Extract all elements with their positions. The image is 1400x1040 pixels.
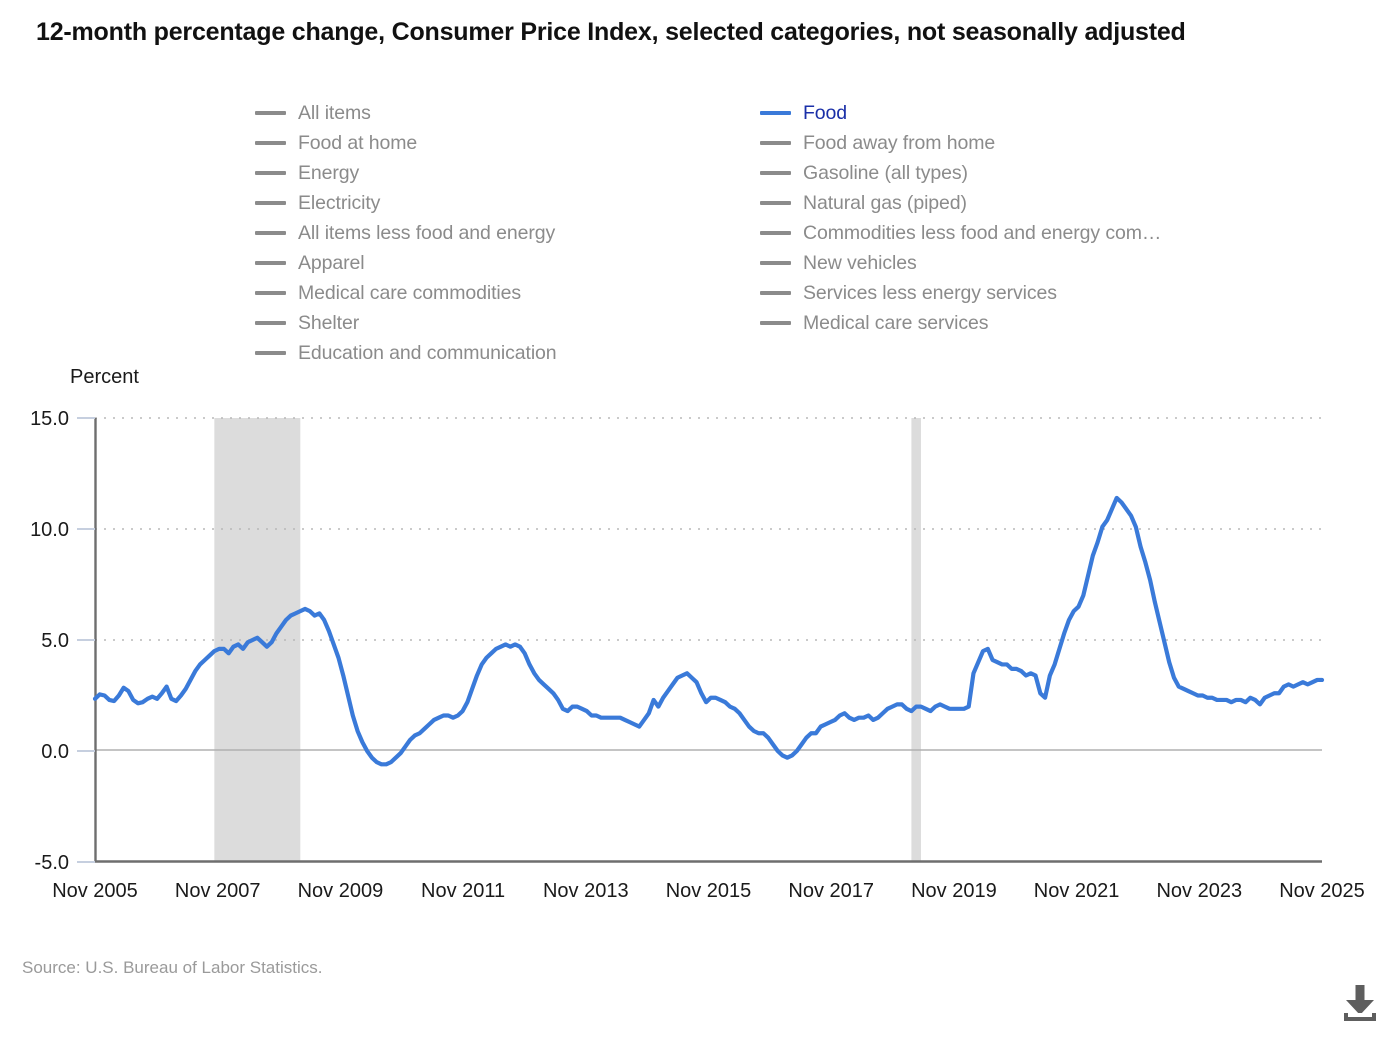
legend-item-energy[interactable]: Energy (255, 158, 760, 188)
legend-item-gasoline-all-types[interactable]: Gasoline (all types) (760, 158, 1280, 188)
recession-band (214, 418, 300, 862)
legend-item-food-away-from-home[interactable]: Food away from home (760, 128, 1280, 158)
legend-item-education-and-communication[interactable]: Education and communication (255, 338, 760, 368)
legend-item-label: Commodities less food and energy com… (803, 222, 1161, 245)
legend-item-label: Electricity (298, 192, 380, 215)
legend-item-label: Shelter (298, 312, 359, 335)
y-tick-label: 5.0 (41, 630, 69, 652)
legend-line-icon (255, 321, 286, 325)
x-tick-label: Nov 2011 (421, 880, 505, 902)
x-tick-label: Nov 2021 (1034, 880, 1120, 902)
legend-column-right: Food Food away from home Gasoline (all t… (760, 98, 1280, 368)
legend-column-left: All items Food at home Energy Electricit… (255, 98, 760, 368)
legend-item-medical-care-services[interactable]: Medical care services (760, 308, 1280, 338)
legend-item-electricity[interactable]: Electricity (255, 188, 760, 218)
y-tick-labels: -5.00.05.010.015.0 (30, 408, 69, 874)
recession-band (911, 418, 921, 862)
legend-line-icon (760, 261, 791, 265)
legend-item-label: Food away from home (803, 132, 995, 155)
legend-line-icon (760, 321, 791, 325)
x-tick-label: Nov 2017 (788, 880, 874, 902)
legend-item-new-vehicles[interactable]: New vehicles (760, 248, 1280, 278)
chart-legend: All items Food at home Energy Electricit… (255, 98, 1355, 368)
y-tick-marks (77, 418, 95, 862)
legend-item-label: Food (803, 102, 847, 125)
legend-item-label: Services less energy services (803, 282, 1057, 305)
legend-line-icon (760, 141, 791, 145)
legend-line-icon (760, 201, 791, 205)
y-tick-label: 15.0 (30, 408, 69, 430)
legend-item-label: Medical care commodities (298, 282, 521, 305)
series-line-food (95, 498, 1322, 764)
x-tick-label: Nov 2007 (175, 880, 261, 902)
legend-line-icon (760, 291, 791, 295)
legend-item-medical-care-commodities[interactable]: Medical care commodities (255, 278, 760, 308)
legend-item-apparel[interactable]: Apparel (255, 248, 760, 278)
legend-line-icon (760, 171, 791, 175)
legend-item-label: Energy (298, 162, 359, 185)
x-tick-labels: Nov 2005Nov 2007Nov 2009Nov 2011Nov 2013… (52, 880, 1365, 902)
legend-item-label: Food at home (298, 132, 417, 155)
legend-item-label: All items (298, 102, 371, 125)
x-tick-label: Nov 2023 (1156, 880, 1242, 902)
x-tick-label: Nov 2015 (666, 880, 752, 902)
legend-item-all-items-less-food-and-energy[interactable]: All items less food and energy (255, 218, 760, 248)
legend-item-label: All items less food and energy (298, 222, 555, 245)
legend-item-all-items[interactable]: All items (255, 98, 760, 128)
legend-line-icon (255, 201, 286, 205)
legend-line-icon (255, 261, 286, 265)
legend-line-icon (255, 231, 286, 235)
legend-item-food[interactable]: Food (760, 98, 1280, 128)
download-button[interactable] (1338, 982, 1382, 1026)
gridlines (95, 418, 1322, 640)
legend-item-label: Gasoline (all types) (803, 162, 968, 185)
legend-line-icon (255, 141, 286, 145)
download-icon (1338, 982, 1382, 1026)
x-tick-label: Nov 2019 (911, 880, 997, 902)
legend-line-icon (255, 111, 286, 115)
legend-item-label: Natural gas (piped) (803, 192, 967, 215)
y-tick-label: 0.0 (41, 741, 69, 763)
legend-line-icon (255, 351, 286, 355)
legend-item-services-less-energy-services[interactable]: Services less energy services (760, 278, 1280, 308)
x-tick-label: Nov 2009 (298, 880, 384, 902)
x-tick-label: Nov 2005 (52, 880, 138, 902)
legend-item-label: Medical care services (803, 312, 988, 335)
x-tick-label: Nov 2025 (1279, 880, 1365, 902)
legend-item-food-at-home[interactable]: Food at home (255, 128, 760, 158)
x-tick-label: Nov 2013 (543, 880, 629, 902)
source-note: Source: U.S. Bureau of Labor Statistics. (22, 958, 322, 978)
legend-item-shelter[interactable]: Shelter (255, 308, 760, 338)
recession-bands (214, 418, 921, 862)
page-title: 12-month percentage change, Consumer Pri… (36, 16, 1286, 48)
legend-line-icon (760, 111, 791, 115)
legend-line-icon (760, 231, 791, 235)
y-tick-label: -5.0 (35, 852, 69, 874)
legend-line-icon (255, 291, 286, 295)
legend-item-label: Apparel (298, 252, 365, 275)
legend-item-label: New vehicles (803, 252, 917, 275)
y-tick-label: 10.0 (30, 519, 69, 541)
legend-item-label: Education and communication (298, 342, 557, 365)
y-axis-title: Percent (70, 366, 139, 389)
legend-item-natural-gas-piped[interactable]: Natural gas (piped) (760, 188, 1280, 218)
legend-line-icon (255, 171, 286, 175)
legend-item-commodities-less-food-and-energy[interactable]: Commodities less food and energy com… (760, 218, 1280, 248)
